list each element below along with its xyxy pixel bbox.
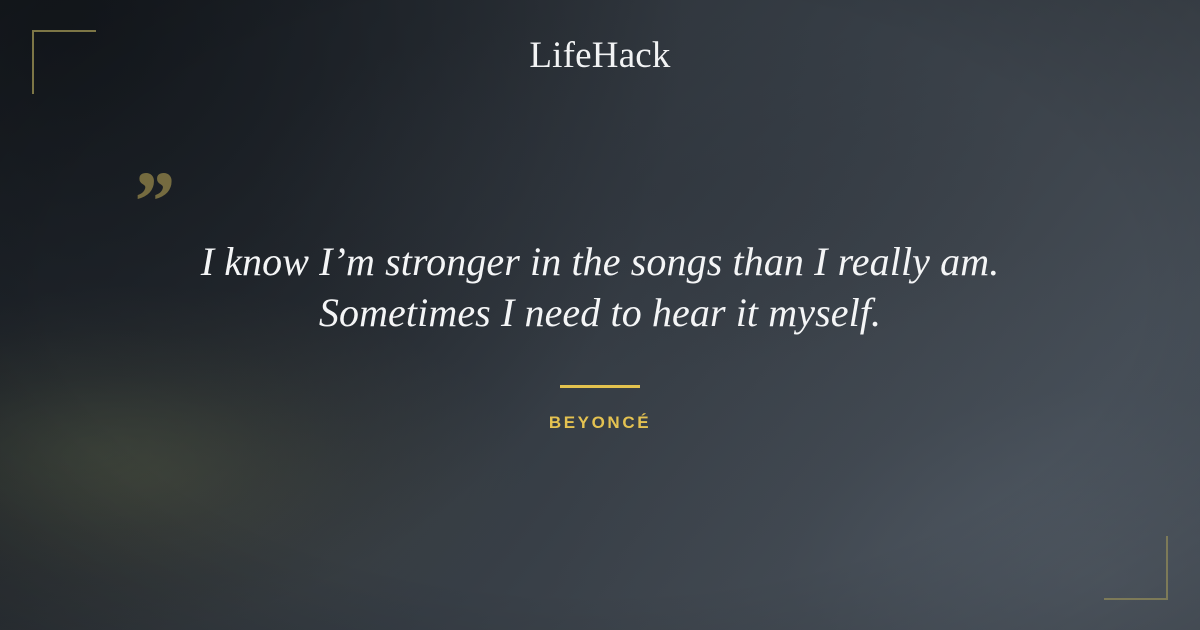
quotation-mark-icon: ” xyxy=(130,158,173,244)
quote-line: Sometimes I need to hear it myself. xyxy=(110,287,1090,338)
quote-card: LifeHack ” I know I’m stronger in the so… xyxy=(0,0,1200,630)
gold-divider xyxy=(560,385,640,388)
corner-bracket-bottom-right-icon xyxy=(1104,536,1168,600)
quote-line: I know I’m stronger in the songs than I … xyxy=(110,236,1090,287)
quote-text-block: I know I’m stronger in the songs than I … xyxy=(0,236,1200,338)
quote-author: BEYONCÉ xyxy=(0,413,1200,433)
brand-logo: LifeHack xyxy=(0,36,1200,77)
